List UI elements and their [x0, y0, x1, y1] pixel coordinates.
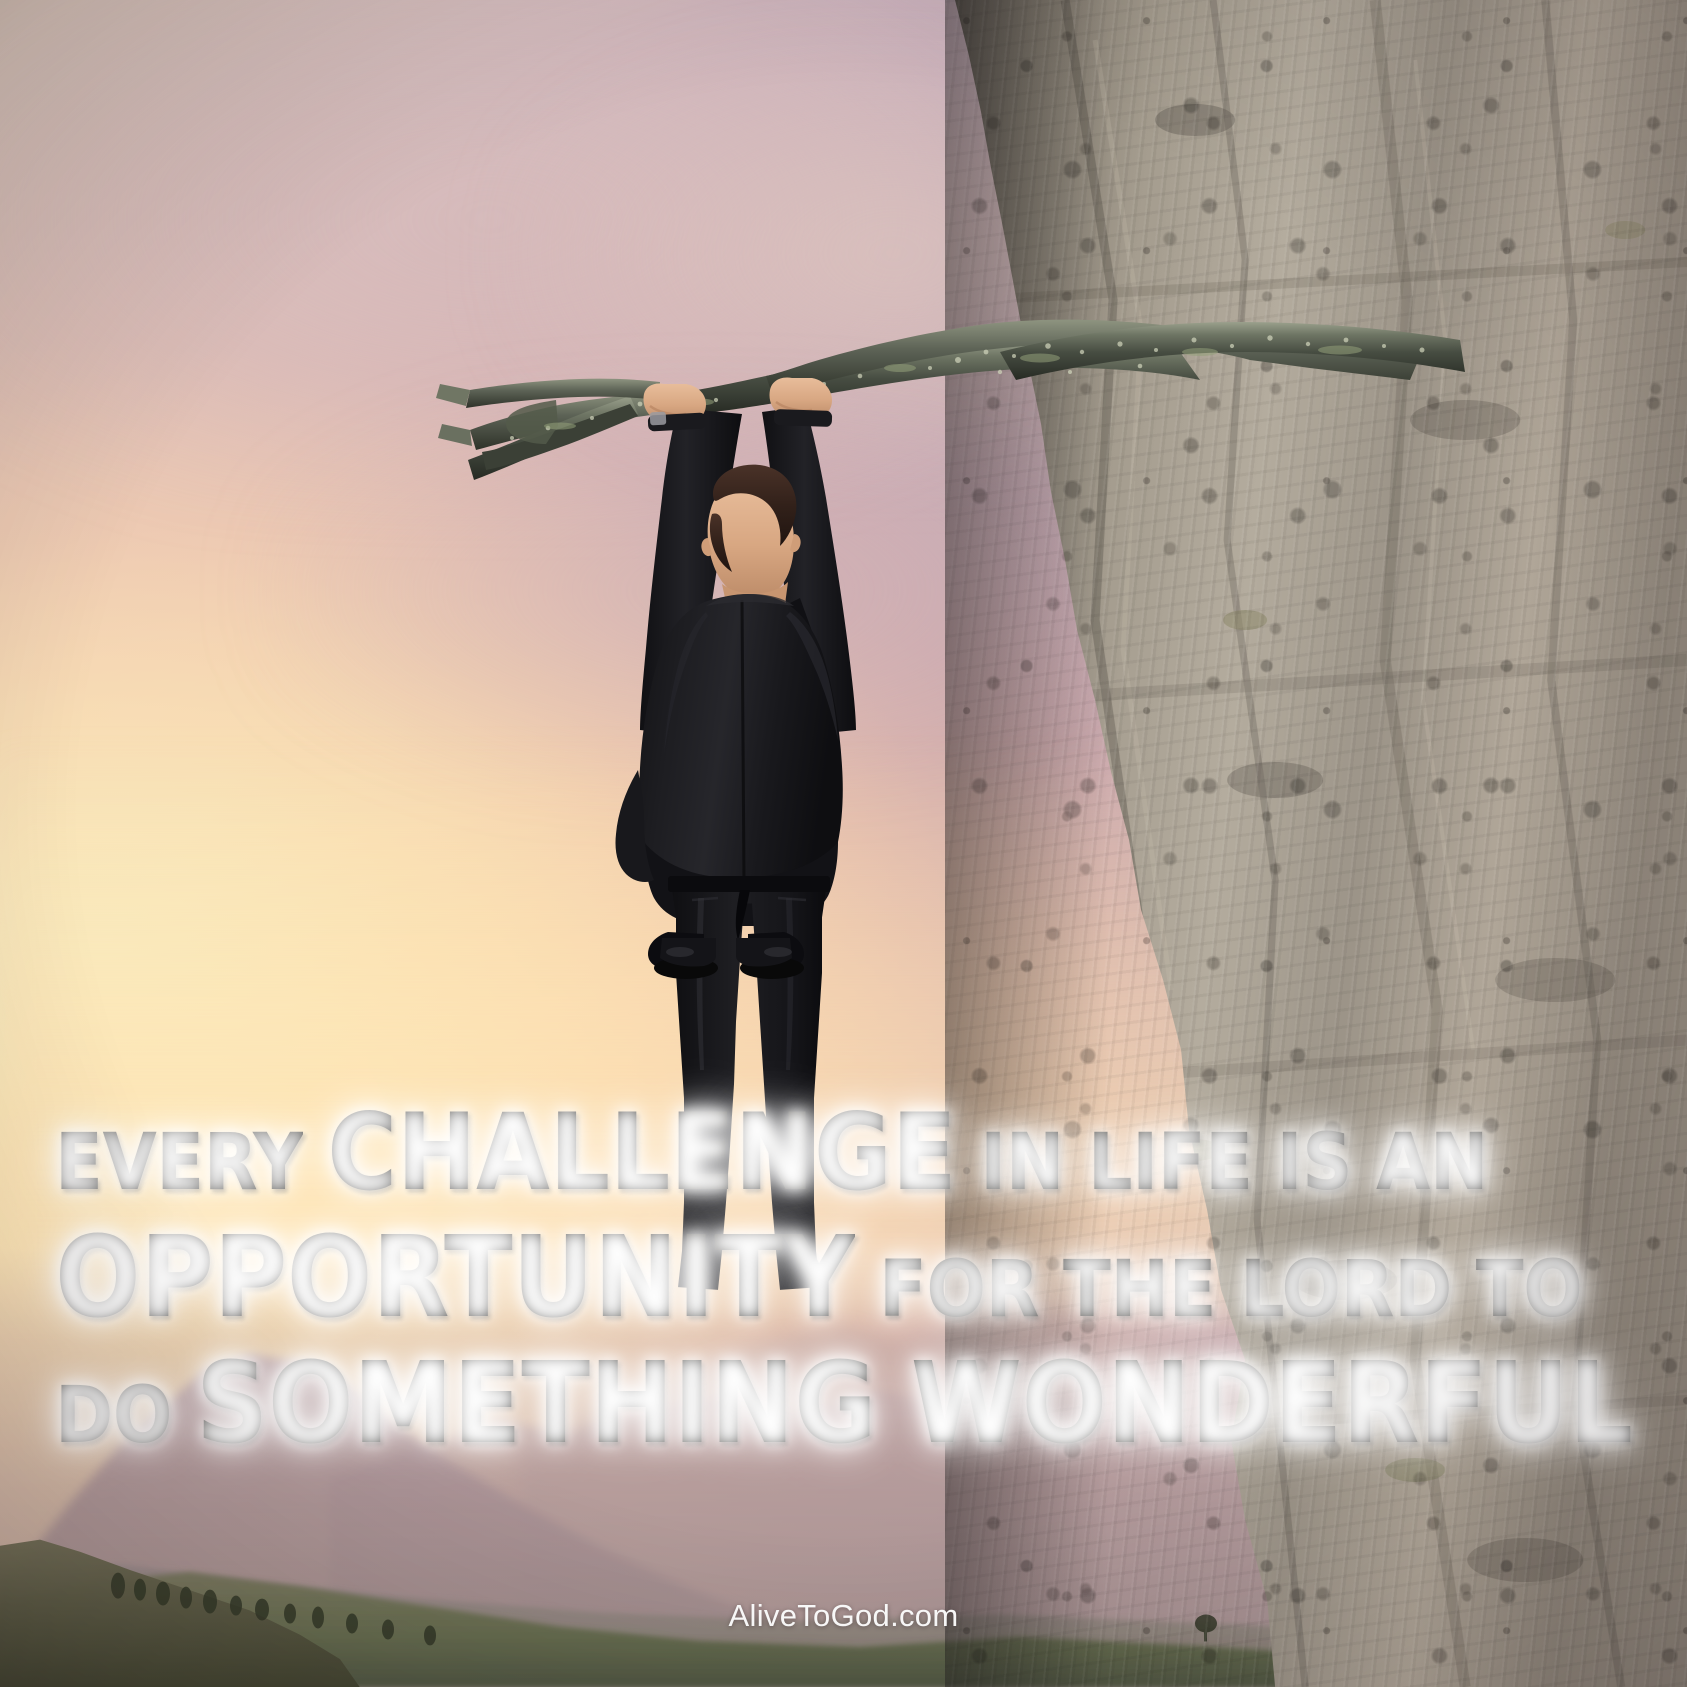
- quote-words-forthelordto: FOR THE LORD TO: [879, 1245, 1582, 1335]
- quote-word-challenge: CHALLENGE: [327, 1091, 956, 1214]
- quote-word-opportunity: OPPORTUNITY: [55, 1213, 855, 1343]
- quote-word-every: EVERY: [55, 1118, 303, 1208]
- quote-word-do: DO: [55, 1371, 172, 1461]
- quote-block: EVERY CHALLENGE IN LIFE IS AN OPPORTUNIT…: [55, 1100, 1145, 1460]
- site-attribution: AliveToGod.com: [0, 1598, 1687, 1634]
- poster-canvas: EVERY CHALLENGE IN LIFE IS AN OPPORTUNIT…: [0, 0, 1687, 1687]
- quote-line-2: OPPORTUNITY FOR THE LORD TO: [55, 1222, 1145, 1334]
- quote-line-1: EVERY CHALLENGE IN LIFE IS AN: [55, 1100, 1145, 1206]
- quote-line-3: DO SOMETHING WONDERFUL: [55, 1348, 1145, 1460]
- quote-words-inlifeisan: IN LIFE IS AN: [980, 1118, 1488, 1208]
- quote-words-somethingwonderful: SOMETHING WONDERFUL: [196, 1339, 1633, 1469]
